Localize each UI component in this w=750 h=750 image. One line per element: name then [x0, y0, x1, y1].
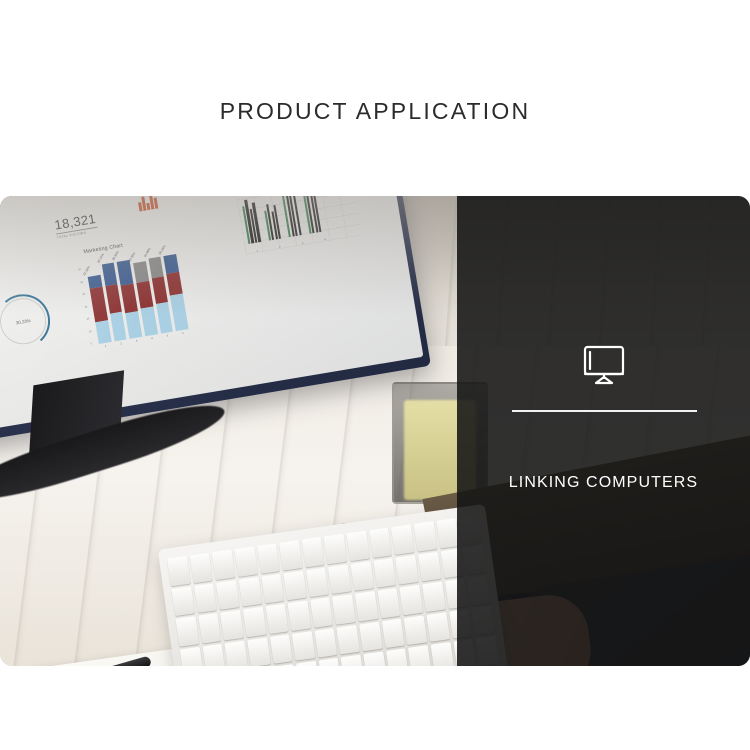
gauge-right-value: 30.23% — [0, 296, 48, 347]
kpi-value: 18,321 TOTAL VISITORS — [53, 211, 98, 240]
overlay-panel: LINKING COMPUTERS — [457, 196, 750, 666]
monitor-icon — [582, 344, 626, 386]
dashboard-paragraph: and what are their needs? This can help … — [0, 196, 62, 219]
bar-value-label: 40.15% — [96, 253, 105, 264]
overlay-content: LINKING COMPUTERS — [457, 196, 750, 666]
sparkline-kpi — [137, 196, 158, 211]
bar-value-label: 44.98% — [143, 247, 152, 258]
bar-value-label: 28.35% — [111, 250, 120, 261]
bar-group — [263, 203, 281, 241]
overlay-caption: LINKING COMPUTERS — [457, 474, 750, 492]
bar-value-label: 31.28% — [82, 265, 91, 276]
bar-value-label: 40.35% — [128, 252, 137, 263]
product-application-banner: and what are their needs? This can help … — [0, 196, 750, 666]
marketing-chart-plot: 31.28% 40.15% — [86, 252, 189, 344]
overlay-divider — [512, 410, 697, 412]
bar-group — [281, 196, 302, 237]
marketing-chart: Marketing Chart 6050403020100 31.28% — [75, 236, 237, 357]
page-title: PRODUCT APPLICATION — [0, 98, 750, 125]
gauge-right: 30.23% — [0, 295, 50, 348]
bar-value-label: 38.19% — [158, 244, 167, 255]
target-chart: Target — [231, 196, 363, 254]
